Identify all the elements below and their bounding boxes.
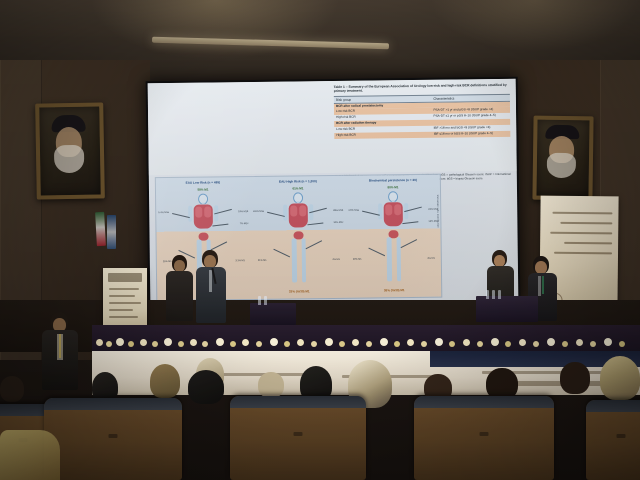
panel-label: 8.6% M1a [253,210,264,213]
diagram-lung-right [204,206,211,217]
panel-label: 31% M1b [428,208,438,211]
panel-bottom-pct: 38% (%/30) M1 [347,288,441,293]
panel-bottom-pct: 33% (%/30) M1 [252,289,346,294]
portrait-khamenei [532,116,593,201]
panel-table-right [476,296,538,322]
water-bottle [492,290,495,299]
panel-label: 29% M1 [353,258,362,261]
diagram-lung-left [385,204,392,215]
diagram-lung-right [394,204,401,215]
audience-head-hijab [188,370,224,404]
portrait-beard [547,153,576,178]
table-title: Table 1 – Summary of the European Associ… [334,83,510,94]
audience-patterned-garment [0,430,60,480]
audience-head-hijab [150,364,180,398]
panel-label: 7% M1c [240,222,249,225]
audience-head [258,372,284,398]
figure-panel-high-risk: EAU High Risk (n = 1,200) 61% M1 [251,176,346,299]
row-group: High-risk BCR [334,133,433,138]
panel-header: Biochemical persistence (n = 30) [346,178,440,183]
panel-label: 28% M1b [333,209,343,212]
diagram-leg-right [301,238,306,282]
body-diagram [275,192,322,289]
flower-arrangement [92,336,640,352]
panel-table-left [250,303,296,325]
panel-header: EAU High Risk (n = 1,200) [251,179,345,184]
panel-header: EAU Low Risk (n = 489) [156,180,250,185]
panel-top-pct: 80% M1 [346,185,440,190]
ceiling-glow-right [430,0,640,52]
panel-label: 13% M1c [428,220,438,223]
portrait-khomeini [35,102,105,199]
slide-table: Table 1 – Summary of the European Associ… [334,83,511,139]
diagram-arm-left [188,206,192,222]
body-diagram [370,191,417,288]
roll-up-banner-persian [103,268,147,330]
audience-head-hijab [600,356,640,400]
table-col-header-group: Risk group [334,96,433,101]
audience-seat[interactable] [44,398,182,480]
water-bottle [498,290,501,299]
audience-seat[interactable] [586,400,640,480]
lanyard [542,276,544,294]
panel-label: 4% M1 [332,258,339,261]
flag-iran [95,212,106,246]
panel-label: 3.1% M1 [235,259,244,262]
lanyard [59,334,61,358]
figure-panel-biochemical-persistence: Biochemical persistence (n = 30) 80% M1 [346,175,441,298]
water-bottle [264,296,267,305]
panel-label: 3% M1 [427,257,434,260]
diagram-lung-right [299,205,306,216]
audience-head [0,376,24,402]
diagram-arm-left [283,205,287,221]
panel-label: 10% M1c [333,221,343,224]
audience-seat[interactable] [230,396,366,480]
table-col-header-chars: Characteristics [433,95,510,100]
auditorium-scene: Table 1 – Summary of the European Associ… [0,0,640,480]
flag-organization [107,215,116,249]
water-bottle [258,296,261,305]
diagram-leg-left [387,237,392,281]
row-chars: IBF ≤18 mo or bGS 8–10 (ISUP grade 4–5) [434,132,511,137]
panel-label: 21% M1 [258,259,267,262]
audience-seat[interactable] [414,396,554,480]
panel-top-pct: 58% M1 [156,187,250,192]
diagram-lung-left [195,207,202,218]
water-bottle [486,290,489,299]
diagram-leg-left [292,238,297,282]
panel-label: 5.4% M1a [158,211,169,214]
panel-label: 19% M1b [238,210,248,213]
audience-head [560,362,590,394]
ceiling-glow-left [90,0,340,60]
diagram-lung-left [290,205,297,216]
panel-label: 4.6% M1a [348,209,359,212]
diagram-arm-left [378,203,382,219]
panel-label: 25% M1 [163,260,172,263]
panel-top-pct: 61% M1 [251,186,345,191]
diagram-leg-right [396,237,401,281]
portrait-beard [54,145,84,174]
